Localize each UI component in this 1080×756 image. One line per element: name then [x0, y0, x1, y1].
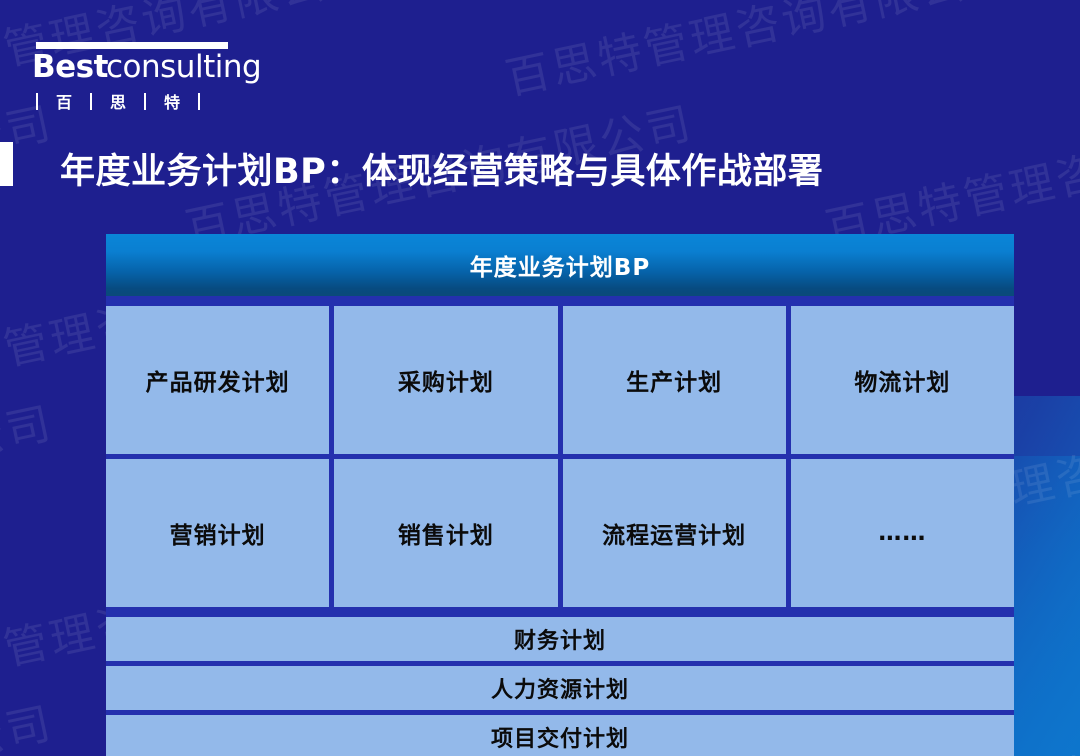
watermark-text: 百思特管理咨询有限公司: [499, 0, 1018, 107]
logo-top-rule: [36, 42, 228, 49]
logo-divider-bar: [198, 93, 200, 110]
logo-chinese-3: 特: [146, 89, 198, 113]
logo-word-consulting: consulting: [106, 49, 261, 85]
diagram-cell[interactable]: 营销计划: [106, 459, 329, 607]
title-accent-bar: [0, 142, 13, 186]
logo-chinese-1: 百: [38, 89, 90, 113]
diagram-wide-row[interactable]: 财务计划: [106, 617, 1014, 661]
diagram-cell[interactable]: ……: [791, 459, 1014, 607]
diagram-wide-rows: 财务计划人力资源计划项目交付计划: [106, 612, 1014, 756]
bp-diagram: 年度业务计划BP 产品研发计划采购计划生产计划物流计划营销计划销售计划流程运营计…: [106, 234, 1014, 756]
watermark-text: 百思特管理咨询有限公司: [819, 87, 1080, 257]
diagram-cell[interactable]: 物流计划: [791, 306, 1014, 454]
diagram-cell[interactable]: 生产计划: [563, 306, 786, 454]
diagram-wide-row[interactable]: 项目交付计划: [106, 715, 1014, 756]
logo-chinese-2: 思: [92, 89, 144, 113]
slide-canvas: 百思特管理咨询有限公司百思特管理咨询有限公司百思特管理咨询有限公司百思特管理咨询…: [0, 0, 1080, 756]
watermark-text: 百思特管理咨询有限公司: [0, 387, 58, 557]
diagram-cell[interactable]: 采购计划: [334, 306, 557, 454]
diagram-grid-row: 营销计划销售计划流程运营计划……: [106, 459, 1014, 607]
diagram-wide-row[interactable]: 人力资源计划: [106, 666, 1014, 710]
diagram-header: 年度业务计划BP: [106, 234, 1014, 296]
brand-logo: Best consulting 百 思 特: [32, 42, 232, 113]
diagram-cell[interactable]: 产品研发计划: [106, 306, 329, 454]
diagram-cell[interactable]: 销售计划: [334, 459, 557, 607]
diagram-cell[interactable]: 流程运营计划: [563, 459, 786, 607]
page-title: 年度业务计划BP：体现经营策略与具体作战部署: [60, 143, 823, 194]
diagram-grid-row: 产品研发计划采购计划生产计划物流计划: [106, 306, 1014, 454]
logo-chinese-row: 百 思 特: [32, 89, 232, 113]
diagram-grid: 产品研发计划采购计划生产计划物流计划营销计划销售计划流程运营计划……: [106, 306, 1014, 607]
watermark-text: 百思特管理咨询有限公司: [0, 687, 58, 756]
logo-word-best: Best: [32, 49, 108, 85]
logo-wordmark: Best consulting: [32, 50, 232, 86]
